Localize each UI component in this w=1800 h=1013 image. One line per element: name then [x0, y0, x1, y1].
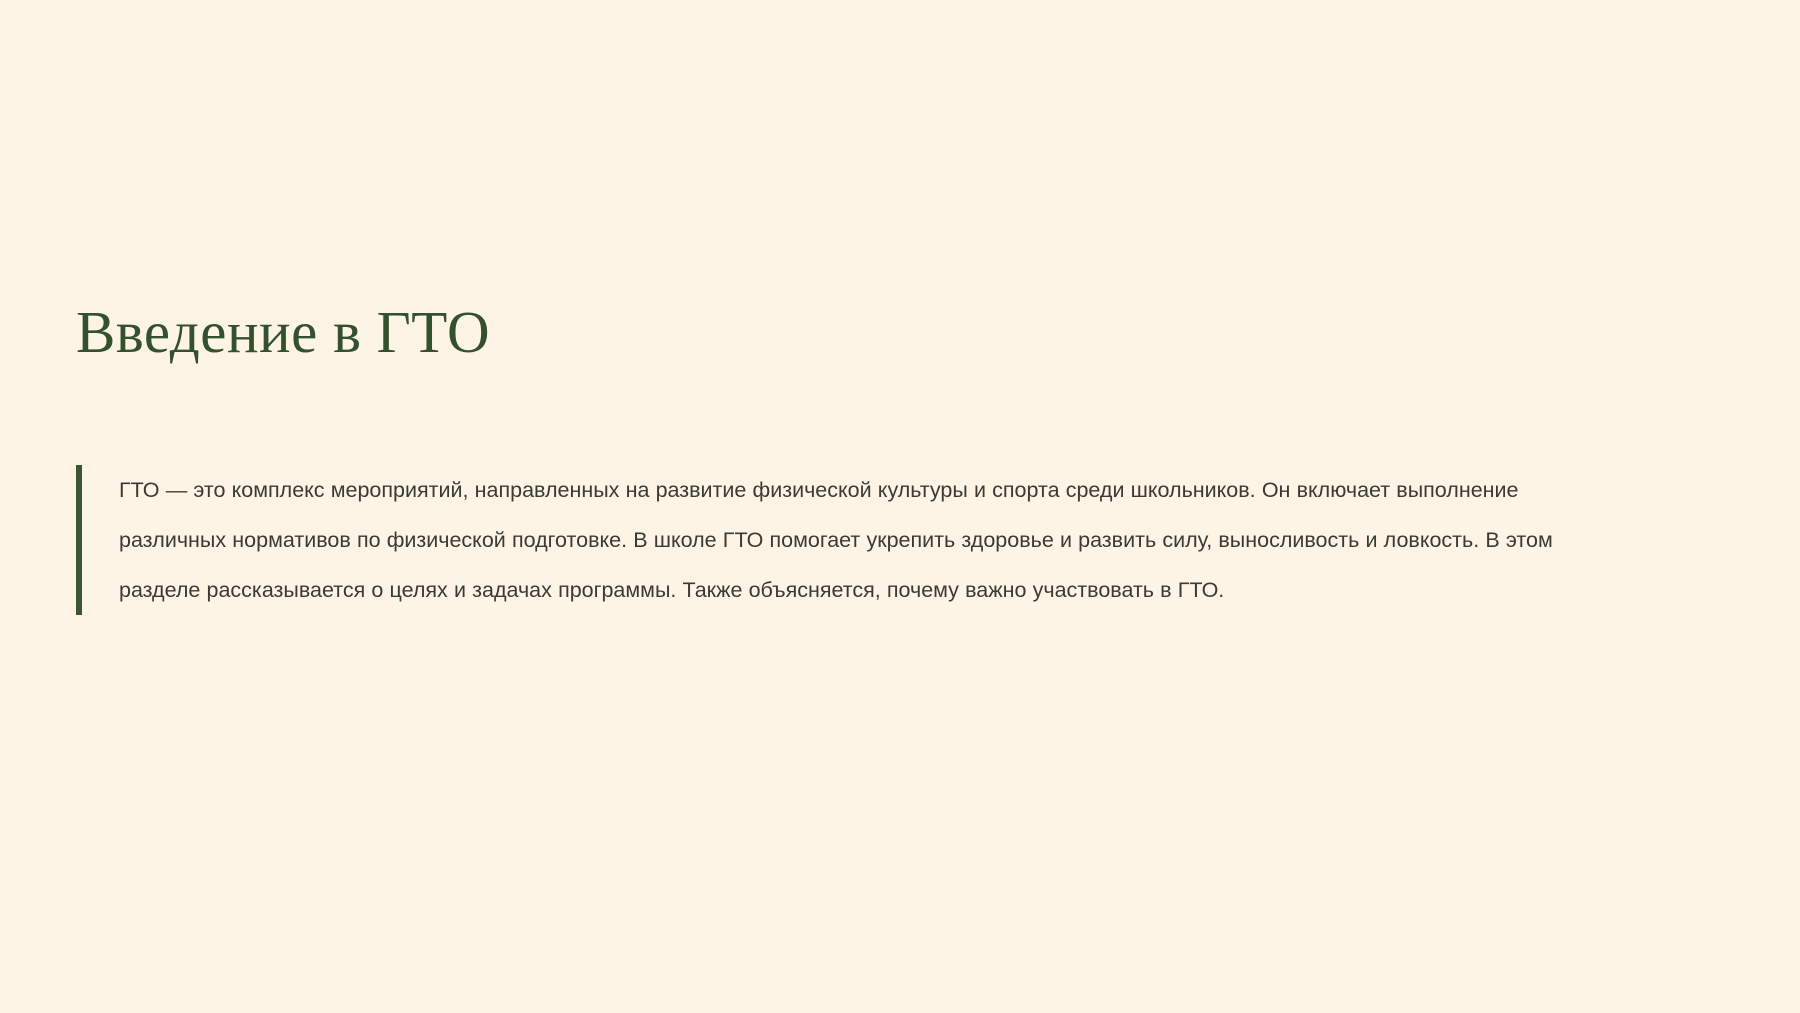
page-root: Введение в ГТО ГТО — это комплекс меропр… — [0, 0, 1800, 1013]
intro-quote-block: ГТО — это комплекс мероприятий, направле… — [76, 465, 1736, 615]
intro-paragraph: ГТО — это комплекс мероприятий, направле… — [119, 465, 1594, 615]
page-title: Введение в ГТО — [76, 294, 1736, 370]
content-block: Введение в ГТО ГТО — это комплекс меропр… — [76, 294, 1736, 615]
